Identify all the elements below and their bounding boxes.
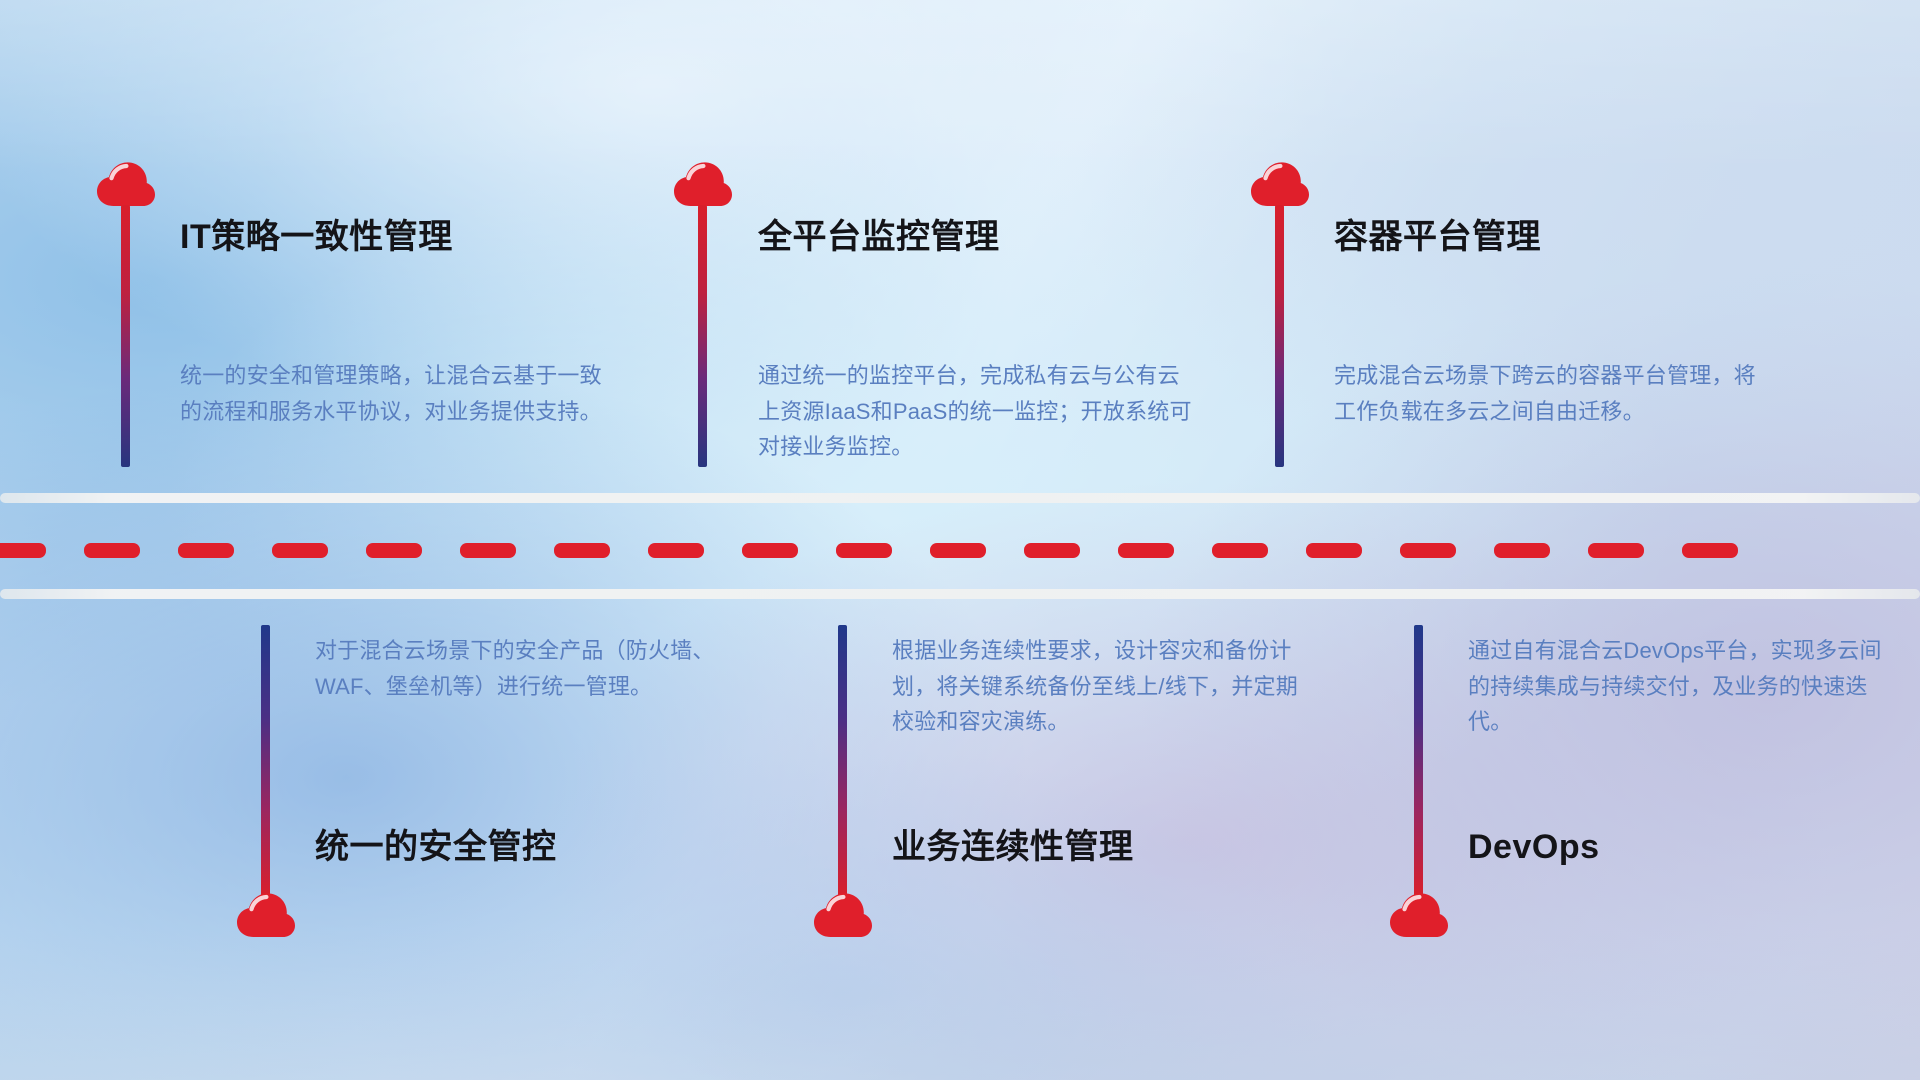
cloud-pin-icon: [235, 891, 297, 939]
road-dash: [1400, 543, 1456, 558]
column-title: DevOps: [1468, 830, 1600, 864]
column-description: 对于混合云场景下的安全产品（防火墙、WAF、堡垒机等）进行统一管理。: [315, 633, 735, 704]
road-dash: [460, 543, 516, 558]
road-dash: [0, 543, 46, 558]
column-pole: [121, 205, 130, 467]
cloud-pin-icon: [95, 160, 157, 208]
road-dash: [84, 543, 140, 558]
road-dash: [366, 543, 422, 558]
infographic-canvas: IT策略一致性管理 统一的安全和管理策略，让混合云基于一致的流程和服务水平协议，…: [0, 0, 1920, 1080]
road-dash: [1024, 543, 1080, 558]
road-dash: [1306, 543, 1362, 558]
column-pole: [838, 625, 847, 897]
cloud-pin-icon: [672, 160, 734, 208]
road-dash: [836, 543, 892, 558]
road-dash: [742, 543, 798, 558]
cloud-pin-icon: [1249, 160, 1311, 208]
road-dash: [554, 543, 610, 558]
column-pole: [698, 205, 707, 467]
column-title: 业务连续性管理: [892, 830, 1134, 864]
column-pole: [1414, 625, 1423, 897]
road-line-lower: [0, 589, 1920, 599]
road-dash: [1118, 543, 1174, 558]
road-dash: [1212, 543, 1268, 558]
road-dashed-centerline: [0, 543, 1920, 558]
road-dash: [272, 543, 328, 558]
column-pole: [261, 625, 270, 897]
road-line-upper: [0, 493, 1920, 503]
column-description: 完成混合云场景下跨云的容器平台管理，将工作负载在多云之间自由迁移。: [1334, 358, 1774, 429]
column-description: 根据业务连续性要求，设计容灾和备份计划，将关键系统备份至线上/线下，并定期校验和…: [892, 633, 1312, 740]
road-dash: [648, 543, 704, 558]
road-dash: [1494, 543, 1550, 558]
column-description: 通过统一的监控平台，完成私有云与公有云上资源IaaS和PaaS的统一监控；开放系…: [758, 358, 1198, 465]
column-title: 统一的安全管控: [315, 830, 557, 864]
cloud-pin-icon: [812, 891, 874, 939]
column-pole: [1275, 205, 1284, 467]
column-title: IT策略一致性管理: [180, 220, 453, 254]
road-dash: [930, 543, 986, 558]
road-dash: [1682, 543, 1738, 558]
road-dash: [178, 543, 234, 558]
column-title: 容器平台管理: [1334, 220, 1541, 254]
road-dash: [1588, 543, 1644, 558]
column-description: 通过自有混合云DevOps平台，实现多云间的持续集成与持续交付，及业务的快速迭代…: [1468, 633, 1888, 740]
column-title: 全平台监控管理: [758, 220, 1000, 254]
cloud-pin-icon: [1388, 891, 1450, 939]
column-description: 统一的安全和管理策略，让混合云基于一致的流程和服务水平协议，对业务提供支持。: [180, 358, 610, 429]
